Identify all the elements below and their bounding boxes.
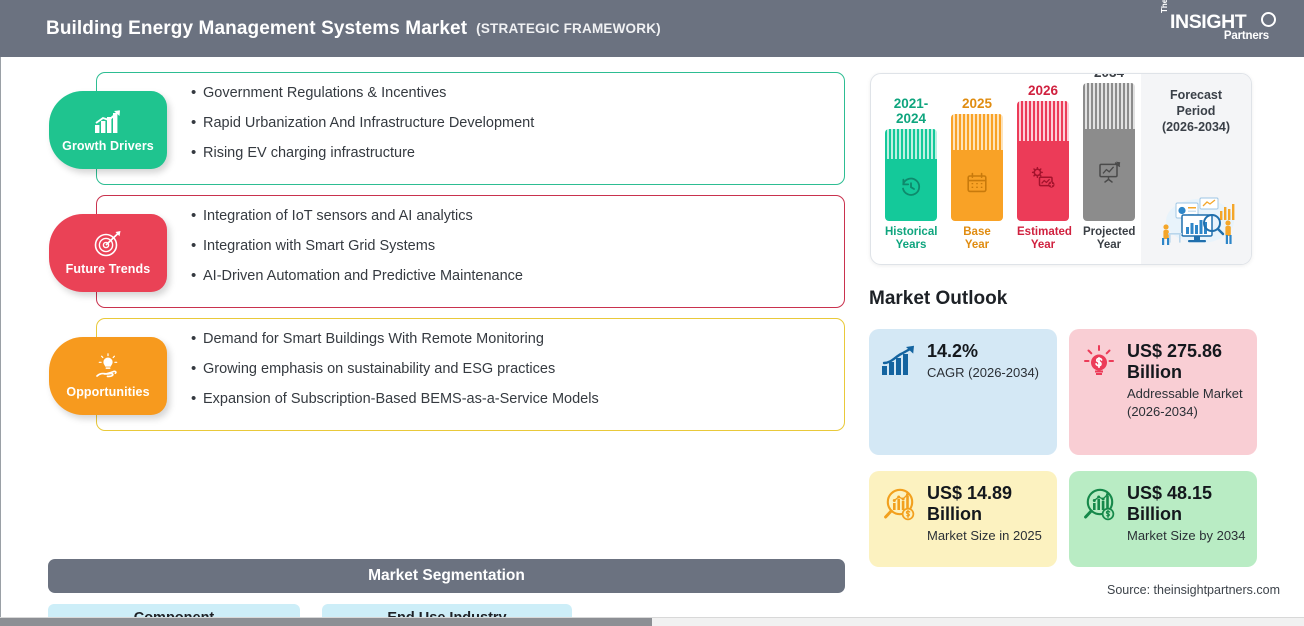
- insight-partners-logo: The INSIGHT Partners: [1158, 11, 1276, 48]
- badge-future-trends: Future Trends: [49, 214, 167, 292]
- bar-chart-growth-icon: [93, 107, 123, 135]
- lightbulb-dollar-icon: [1079, 341, 1119, 379]
- data-analytics-illustration: [1148, 187, 1244, 254]
- list-item-label: Integration of IoT sensors and AI analyt…: [203, 208, 473, 225]
- bullet-dot: •: [191, 85, 203, 102]
- list-item: • Rapid Urbanization And Infrastructure …: [191, 115, 830, 132]
- bar-year-label: 2021-2024: [885, 96, 937, 126]
- market-outlook-title: Market Outlook: [869, 288, 1007, 310]
- section-growth-drivers: • Government Regulations & Incentives • …: [96, 72, 845, 185]
- bullet-dot: •: [191, 268, 203, 285]
- bar-shape: [885, 129, 937, 221]
- bullet-dot: •: [191, 391, 203, 408]
- outlook-card-value: US$ 275.86 Billion: [1127, 341, 1246, 383]
- list-item-label: Growing emphasis on sustainability and E…: [203, 361, 555, 378]
- market-timeline-chart: 2021-2024: [870, 73, 1252, 265]
- bar-shape: [1083, 83, 1135, 221]
- list-item: • AI-Driven Automation and Predictive Ma…: [191, 268, 830, 285]
- bar-year-label: 2026: [1017, 83, 1069, 98]
- timeline-bar-historical: 2021-2024: [885, 96, 937, 252]
- timeline-bars: 2021-2024: [871, 74, 1141, 264]
- outlook-card-text: 14.2% CAGR (2026-2034): [927, 341, 1046, 382]
- bar-caption: Base Year: [951, 226, 1003, 252]
- growth-drivers-bullets: • Government Regulations & Incentives • …: [191, 85, 830, 162]
- timeline-bar-estimated: 2026: [1017, 83, 1069, 252]
- bar-stripe: [1017, 101, 1069, 141]
- bar-solid: [1083, 129, 1135, 221]
- bar-year-label: 2034: [1083, 73, 1135, 80]
- bar-solid: [885, 159, 937, 221]
- list-item: • Government Regulations & Incentives: [191, 85, 830, 102]
- bullet-dot: •: [191, 361, 203, 378]
- list-item: • Integration with Smart Grid Systems: [191, 238, 830, 255]
- future-trends-bullets: • Integration of IoT sensors and AI anal…: [191, 208, 830, 285]
- outlook-card-label: Addressable Market (2026-2034): [1127, 385, 1246, 420]
- badge-label: Opportunities: [66, 385, 149, 399]
- market-segmentation-header: Market Segmentation: [48, 559, 845, 593]
- logo-the-text: The: [1160, 0, 1169, 13]
- bar-shape: [1017, 101, 1069, 221]
- page-title: Building Energy Management Systems Marke…: [46, 18, 467, 40]
- list-item: • Demand for Smart Buildings With Remote…: [191, 331, 830, 348]
- list-item: • Integration of IoT sensors and AI anal…: [191, 208, 830, 225]
- bullet-dot: •: [191, 208, 203, 225]
- outlook-card-cagr: 14.2% CAGR (2026-2034): [869, 329, 1057, 455]
- list-item-label: Demand for Smart Buildings With Remote M…: [203, 331, 544, 348]
- list-item-label: Integration with Smart Grid Systems: [203, 238, 435, 255]
- bullet-dot: •: [191, 238, 203, 255]
- magnifier-chart-dollar-icon: [1079, 483, 1119, 523]
- section-future-trends: • Integration of IoT sensors and AI anal…: [96, 195, 845, 308]
- list-item-label: Government Regulations & Incentives: [203, 85, 446, 102]
- list-item-label: Expansion of Subscription-Based BEMS-as-…: [203, 391, 599, 408]
- bar-solid: [1017, 141, 1069, 221]
- page-header: Building Energy Management Systems Marke…: [0, 0, 1304, 57]
- bullet-dot: •: [191, 145, 203, 162]
- list-item: • Expansion of Subscription-Based BEMS-a…: [191, 391, 830, 408]
- opportunities-bullets: • Demand for Smart Buildings With Remote…: [191, 331, 830, 408]
- list-item: • Growing emphasis on sustainability and…: [191, 361, 830, 378]
- outlook-card-text: US$ 275.86 Billion Addressable Market (2…: [1127, 341, 1246, 420]
- logo-bubble-icon: [1261, 12, 1276, 27]
- presentation-chart-icon: [1097, 160, 1122, 189]
- outlook-card-addressable-market: US$ 275.86 Billion Addressable Market (2…: [1069, 329, 1257, 455]
- timeline-bar-projected: 2034: [1083, 73, 1135, 252]
- section-opportunities: • Demand for Smart Buildings With Remote…: [96, 318, 845, 431]
- timeline-bar-base: 2025: [951, 96, 1003, 252]
- outlook-card-text: US$ 14.89 Billion Market Size in 2025: [927, 483, 1046, 545]
- scrollbar-thumb[interactable]: [0, 618, 652, 626]
- clock-history-icon: [899, 175, 923, 204]
- badge-growth-drivers: Growth Drivers: [49, 91, 167, 169]
- badge-label: Future Trends: [66, 262, 151, 276]
- outlook-card-label: CAGR (2026-2034): [927, 364, 1046, 382]
- forecast-period-panel: Forecast Period (2026-2034): [1141, 74, 1251, 264]
- bullet-dot: •: [191, 331, 203, 348]
- bar-year-label: 2025: [951, 96, 1003, 111]
- bar-shape: [951, 114, 1003, 221]
- badge-opportunities: Opportunities: [49, 337, 167, 415]
- source-text: Source: theinsightpartners.com: [1107, 583, 1280, 597]
- outlook-card-label: Market Size in 2025: [927, 527, 1046, 545]
- outlook-card-text: US$ 48.15 Billion Market Size by 2034: [1127, 483, 1246, 545]
- gear-chart-icon: [1031, 166, 1056, 195]
- bar-solid: [951, 150, 1003, 221]
- page-subtitle: (STRATEGIC FRAMEWORK): [476, 21, 661, 36]
- hand-lightbulb-icon: [93, 353, 123, 381]
- infographic-page: Building Energy Management Systems Marke…: [0, 0, 1304, 626]
- badge-label: Growth Drivers: [62, 139, 154, 153]
- forecast-period-title: Forecast Period (2026-2034): [1162, 87, 1230, 135]
- outlook-card-label: Market Size by 2034: [1127, 527, 1246, 545]
- horizontal-scrollbar[interactable]: [0, 617, 1304, 626]
- bullet-dot: •: [191, 115, 203, 132]
- bar-chart-arrow-icon: [879, 341, 919, 377]
- left-column: • Government Regulations & Incentives • …: [0, 57, 864, 626]
- bar-stripe: [1083, 83, 1135, 129]
- bar-caption: Estimated Year: [1017, 226, 1069, 252]
- magnifier-chart-dollar-icon: [879, 483, 919, 523]
- outlook-card-value: 14.2%: [927, 341, 1046, 362]
- target-dart-icon: [93, 230, 123, 258]
- outlook-card-market-size-2034: US$ 48.15 Billion Market Size by 2034: [1069, 471, 1257, 567]
- bar-caption: Historical Years: [885, 226, 937, 252]
- calendar-icon: [965, 171, 989, 200]
- bar-stripe: [951, 114, 1003, 150]
- outlook-card-value: US$ 48.15 Billion: [1127, 483, 1246, 525]
- list-item-label: AI-Driven Automation and Predictive Main…: [203, 268, 523, 285]
- list-item-label: Rising EV charging infrastructure: [203, 145, 415, 162]
- bar-stripe: [885, 129, 937, 159]
- logo-partners-text: Partners: [1224, 30, 1269, 42]
- list-item-label: Rapid Urbanization And Infrastructure De…: [203, 115, 534, 132]
- right-column: 2021-2024: [864, 57, 1304, 626]
- list-item: • Rising EV charging infrastructure: [191, 145, 830, 162]
- outlook-card-market-size-2025: US$ 14.89 Billion Market Size in 2025: [869, 471, 1057, 567]
- bar-caption: Projected Year: [1083, 226, 1135, 252]
- outlook-card-value: US$ 14.89 Billion: [927, 483, 1046, 525]
